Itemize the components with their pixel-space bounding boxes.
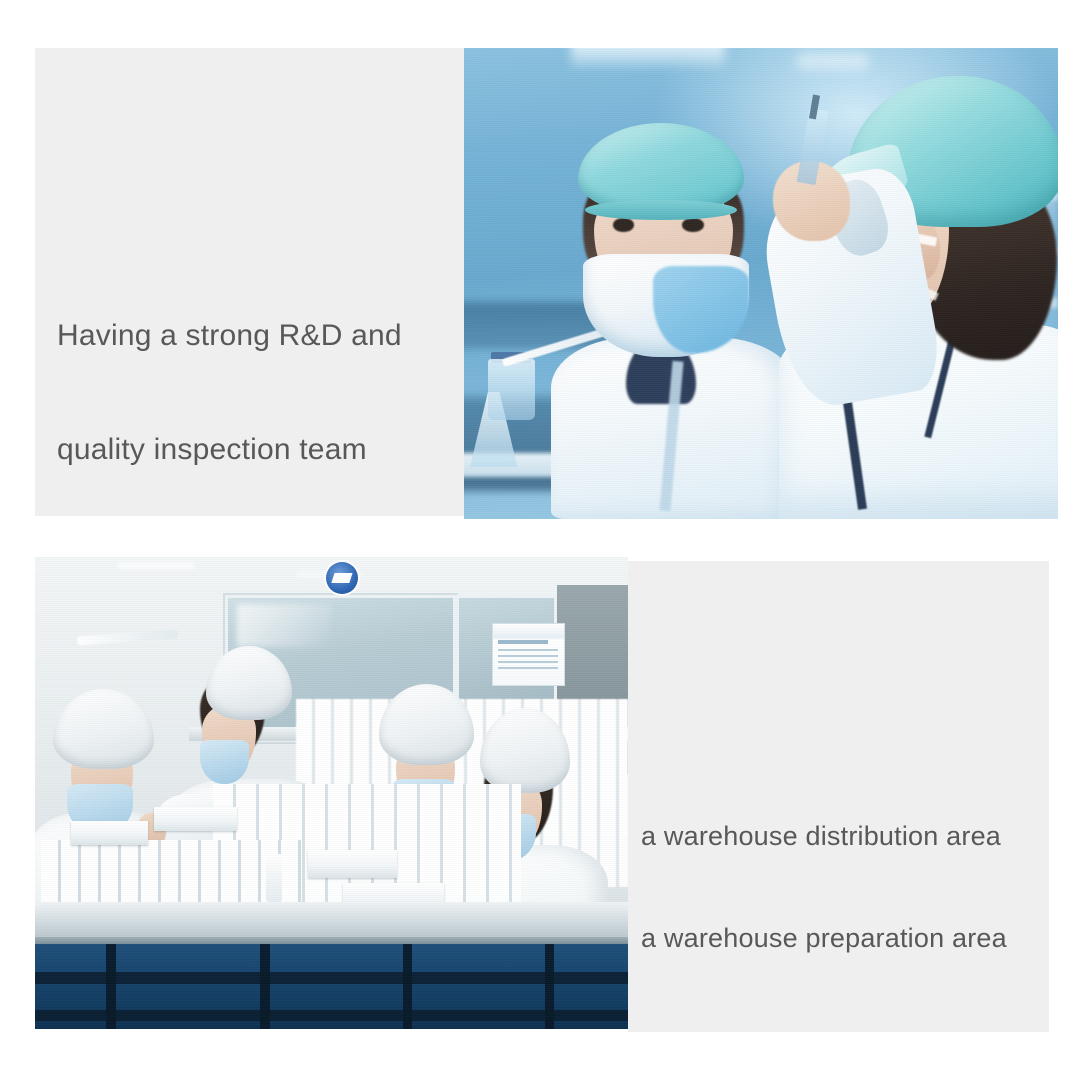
warehouse-caption-line-1: a warehouse distribution area xyxy=(641,819,1007,853)
rnd-caption-line-2: quality inspection team xyxy=(57,431,402,469)
rnd-caption: Having a strong R&D and quality inspecti… xyxy=(57,241,402,545)
warehouse-steel-table-top xyxy=(35,902,628,940)
warehouse-table-leg-4 xyxy=(545,944,554,1029)
worker-2-mask xyxy=(200,740,250,784)
lab-eye-right xyxy=(682,218,703,231)
lab-eye-left xyxy=(613,218,634,231)
warehouse-table-leg-3 xyxy=(403,944,412,1029)
warehouse-table-leg-1 xyxy=(106,944,115,1029)
warehouse-caption-line-2: a warehouse preparation area xyxy=(641,921,1007,955)
worker-3-hairnet xyxy=(379,684,474,764)
lab-ceiling-light xyxy=(571,48,725,67)
warehouse-carton-c xyxy=(308,850,397,878)
warehouse-under-rail-1 xyxy=(35,972,628,983)
warehouse-wall-notice xyxy=(492,623,565,686)
warehouse-carton-a xyxy=(71,821,148,845)
worker-1-hairnet xyxy=(53,689,154,769)
warehouse-carton-b xyxy=(154,807,237,831)
rnd-caption-line-1: Having a strong R&D and xyxy=(57,317,402,355)
warehouse-table-leg-2 xyxy=(260,944,269,1029)
lab-beaker xyxy=(488,359,536,420)
lab-technician-front xyxy=(535,123,802,519)
warehouse-white-bottle xyxy=(266,854,281,901)
warehouse-under-rail-2 xyxy=(35,1010,628,1021)
lab-ceiling-light-secondary xyxy=(797,53,868,69)
lab-hairnet-front xyxy=(578,123,744,214)
warehouse-ceiling-light-1 xyxy=(118,562,195,570)
warehouse-photo xyxy=(35,557,628,1029)
warehouse-window-glare xyxy=(237,604,332,646)
worker-4-hairnet xyxy=(480,708,570,793)
warehouse-caption: a warehouse distribution area a warehous… xyxy=(641,751,1007,1023)
page-root: Having a strong R&D and quality inspecti… xyxy=(0,0,1080,1080)
warehouse-blue-sign-icon xyxy=(326,562,358,594)
rnd-lab-photo xyxy=(464,48,1058,519)
worker-2-hairnet xyxy=(206,646,292,720)
